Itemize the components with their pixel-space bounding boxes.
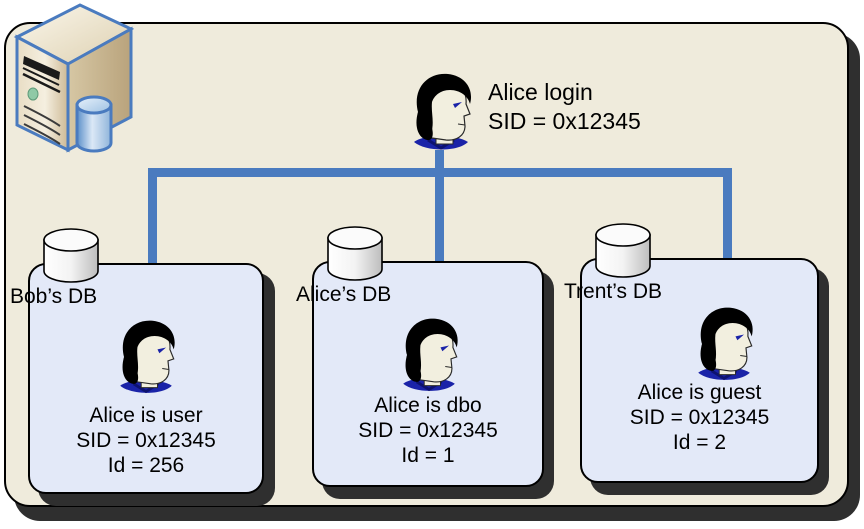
login-title: Alice login — [488, 78, 641, 107]
database-card-details: Alice is dbo SID = 0x12345 Id = 1 — [312, 393, 544, 468]
database-card-sid: SID = 0x12345 — [28, 428, 264, 453]
database-cylinder-icon — [592, 222, 654, 280]
database-card-id: Id = 256 — [28, 453, 264, 478]
database-card-details: Alice is user SID = 0x12345 Id = 256 — [28, 403, 264, 478]
database-card-details: Alice is guest SID = 0x12345 Id = 2 — [580, 380, 819, 455]
database-cylinder-icon — [324, 225, 386, 283]
database-card-label: Bob’s DB — [10, 285, 97, 309]
person-profile-icon — [103, 315, 189, 401]
database-card-role: Alice is user — [28, 403, 264, 428]
login-caption: Alice login SID = 0x12345 — [488, 78, 641, 136]
database-card-bobs-db[interactable]: Bob’s DB Alice is user SID = 0x12345 Id … — [0, 225, 285, 510]
database-card-alices-db[interactable]: Alice’s DB Alice is dbo SID = 0x12345 Id… — [288, 225, 558, 510]
login-sid: SID = 0x12345 — [488, 107, 641, 136]
database-card-sid: SID = 0x12345 — [312, 418, 544, 443]
database-card-role: Alice is guest — [580, 380, 819, 405]
database-card-role: Alice is dbo — [312, 393, 544, 418]
database-card-label: Alice’s DB — [296, 283, 391, 307]
database-card-sid: SID = 0x12345 — [580, 405, 819, 430]
database-cylinder-icon — [77, 97, 111, 151]
diagram-canvas: Alice login SID = 0x12345 — [0, 0, 864, 529]
person-profile-icon — [386, 313, 472, 399]
database-card-trents-db[interactable]: Trent’s DB Alice is guest SID = 0x12345 … — [556, 222, 856, 507]
database-card-id: Id = 1 — [312, 443, 544, 468]
database-cylinder-icon — [40, 227, 102, 285]
person-profile-icon-login — [398, 68, 484, 158]
person-profile-icon — [681, 302, 767, 388]
database-card-id: Id = 2 — [580, 430, 819, 455]
server-tower-icon — [2, 2, 134, 154]
database-card-label: Trent’s DB — [564, 280, 662, 304]
